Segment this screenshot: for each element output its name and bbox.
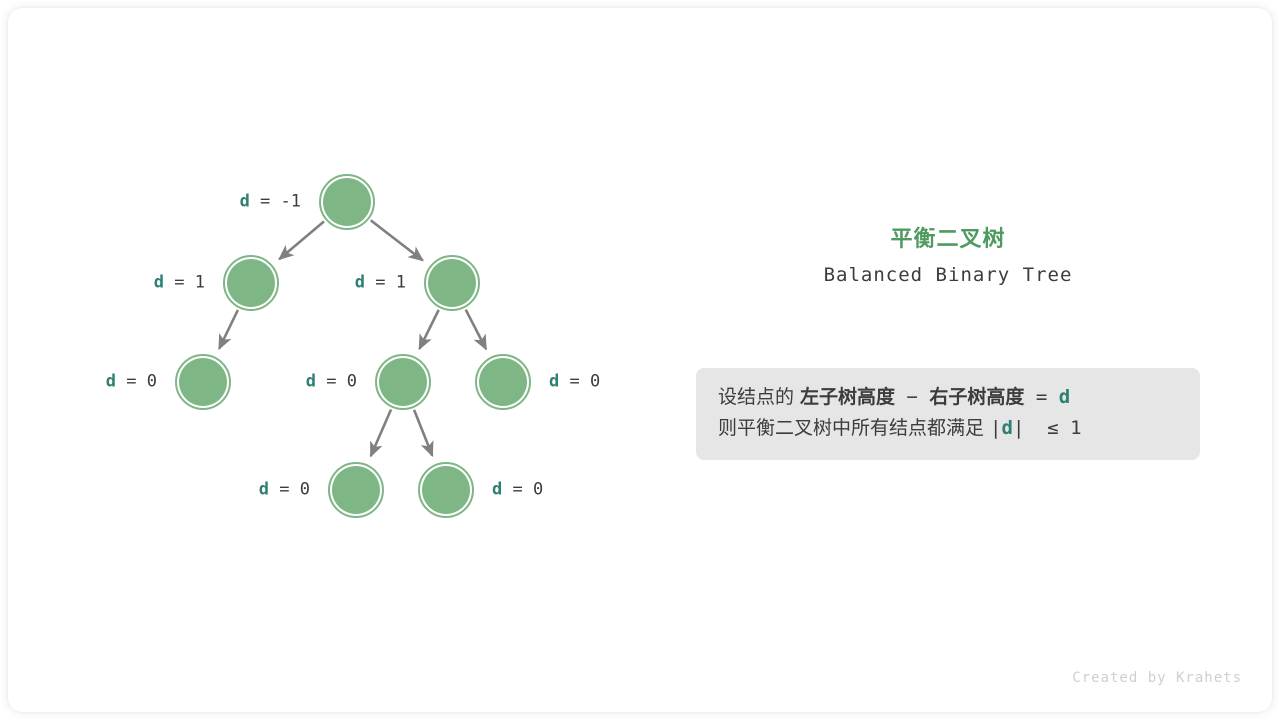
node-balance-value: = 1 (164, 273, 205, 293)
panel-title: 平衡二叉树 (660, 226, 1236, 254)
definition-line-1: 设结点的 左子树高度 − 右子树高度 = d (718, 382, 1180, 413)
tree-edge (419, 310, 438, 349)
definition-l1-minus: − (895, 386, 929, 408)
node-balance-label-f: d = 0 (549, 374, 600, 391)
tree-node-d (179, 358, 227, 406)
node-balance-value: = 0 (116, 372, 157, 392)
node-balance-symbol: d (306, 372, 316, 392)
tree-node-f (479, 358, 527, 406)
node-balance-symbol: d (106, 372, 116, 392)
definition-box: 设结点的 左子树高度 − 右子树高度 = d 则平衡二叉树中所有结点都满足 |d… (696, 368, 1200, 460)
definition-l2-prefix: 则平衡二叉树中所有结点都满足 (718, 417, 990, 439)
info-panel: 平衡二叉树 Balanced Binary Tree (660, 226, 1236, 286)
definition-l1-prefix: 设结点的 (718, 386, 800, 408)
node-balance-value: = 0 (559, 372, 600, 392)
tree-node-c (428, 259, 476, 307)
node-balance-symbol: d (355, 273, 365, 293)
definition-l1-left-height: 左子树高度 (800, 386, 895, 408)
node-balance-value: = 0 (269, 480, 310, 500)
node-balance-value: = 0 (502, 480, 543, 500)
node-balance-value: = -1 (250, 192, 301, 212)
tree-edge (466, 310, 486, 349)
node-balance-symbol: d (259, 480, 269, 500)
tree-node-b (227, 259, 275, 307)
tree-nodes (176, 175, 530, 517)
slide-stage: d = -1d = 1d = 1d = 0d = 0d = 0d = 0d = … (8, 8, 1272, 712)
node-balance-symbol: d (154, 273, 164, 293)
panel-subtitle: Balanced Binary Tree (660, 264, 1236, 286)
tree-edge (279, 221, 324, 259)
node-balance-label-e: d = 0 (306, 374, 357, 391)
node-balance-label-b: d = 1 (154, 275, 205, 292)
definition-l1-equals: = (1024, 386, 1058, 408)
tree-node-e (379, 358, 427, 406)
node-balance-value: = 1 (365, 273, 406, 293)
tree-node-root (323, 178, 371, 226)
definition-l1-d: d (1059, 386, 1070, 408)
node-balance-label-d: d = 0 (106, 374, 157, 391)
tree-edge (414, 410, 432, 456)
node-balance-value: = 0 (316, 372, 357, 392)
definition-l2-d: d (1002, 417, 1013, 439)
node-balance-label-c: d = 1 (355, 275, 406, 292)
definition-l2-bar-left: | (990, 417, 1001, 439)
node-balance-label-g: d = 0 (259, 482, 310, 499)
node-balance-symbol: d (240, 192, 250, 212)
slide-card: d = -1d = 1d = 1d = 0d = 0d = 0d = 0d = … (8, 8, 1272, 712)
tree-edge (219, 310, 238, 349)
definition-l1-right-height: 右子树高度 (929, 386, 1024, 408)
tree-edge (371, 410, 391, 457)
node-balance-label-root: d = -1 (240, 194, 301, 211)
footer-credit: Created by Krahets (1072, 670, 1242, 686)
binary-tree-diagram (8, 8, 1272, 712)
tree-edge (371, 220, 423, 260)
tree-node-g (332, 466, 380, 514)
definition-line-2: 则平衡二叉树中所有结点都满足 |d| ≤ 1 (718, 413, 1180, 444)
node-balance-label-h: d = 0 (492, 482, 543, 499)
definition-l2-bar-right: | (1013, 417, 1024, 439)
node-balance-symbol: d (549, 372, 559, 392)
tree-node-h (422, 466, 470, 514)
definition-l2-condition: ≤ 1 (1024, 417, 1081, 439)
node-balance-symbol: d (492, 480, 502, 500)
